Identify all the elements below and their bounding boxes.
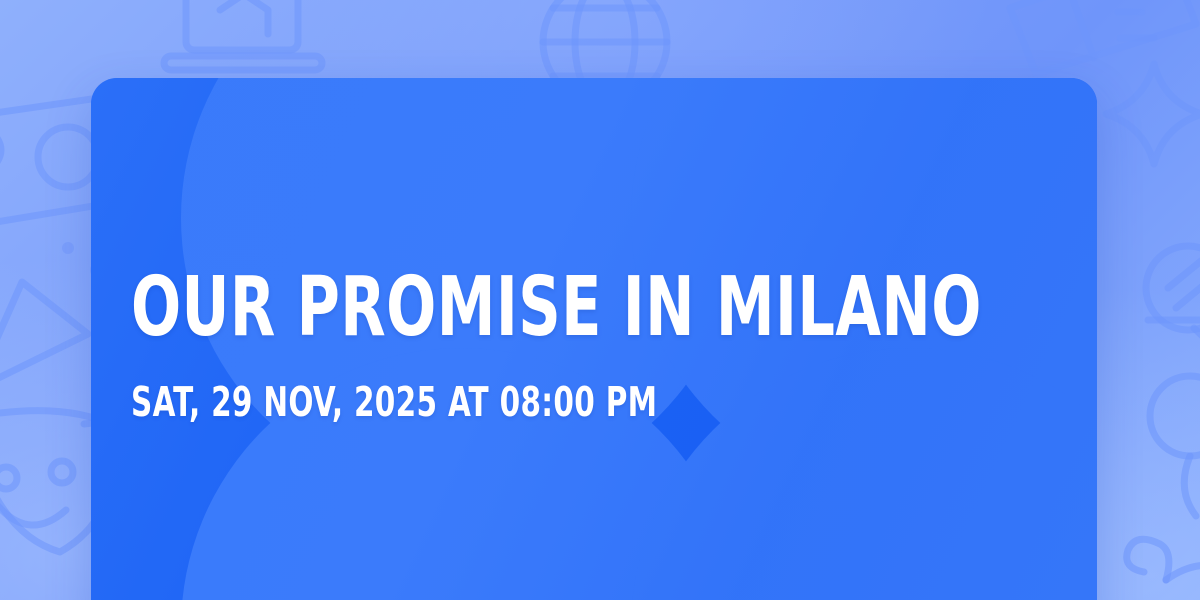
event-banner-canvas: OUR PROMISE IN MILANO SAT, 29 NOV, 2025 … bbox=[0, 0, 1200, 600]
event-title: OUR PROMISE IN MILANO bbox=[131, 269, 851, 346]
event-datetime: SAT, 29 NOV, 2025 AT 08:00 PM bbox=[131, 382, 851, 423]
music-note-icon bbox=[1122, 466, 1200, 600]
event-card[interactable]: OUR PROMISE IN MILANO SAT, 29 NOV, 2025 … bbox=[91, 78, 1097, 600]
sparkle-icon bbox=[1098, 54, 1200, 174]
card-text-block: OUR PROMISE IN MILANO SAT, 29 NOV, 2025 … bbox=[131, 78, 1031, 600]
